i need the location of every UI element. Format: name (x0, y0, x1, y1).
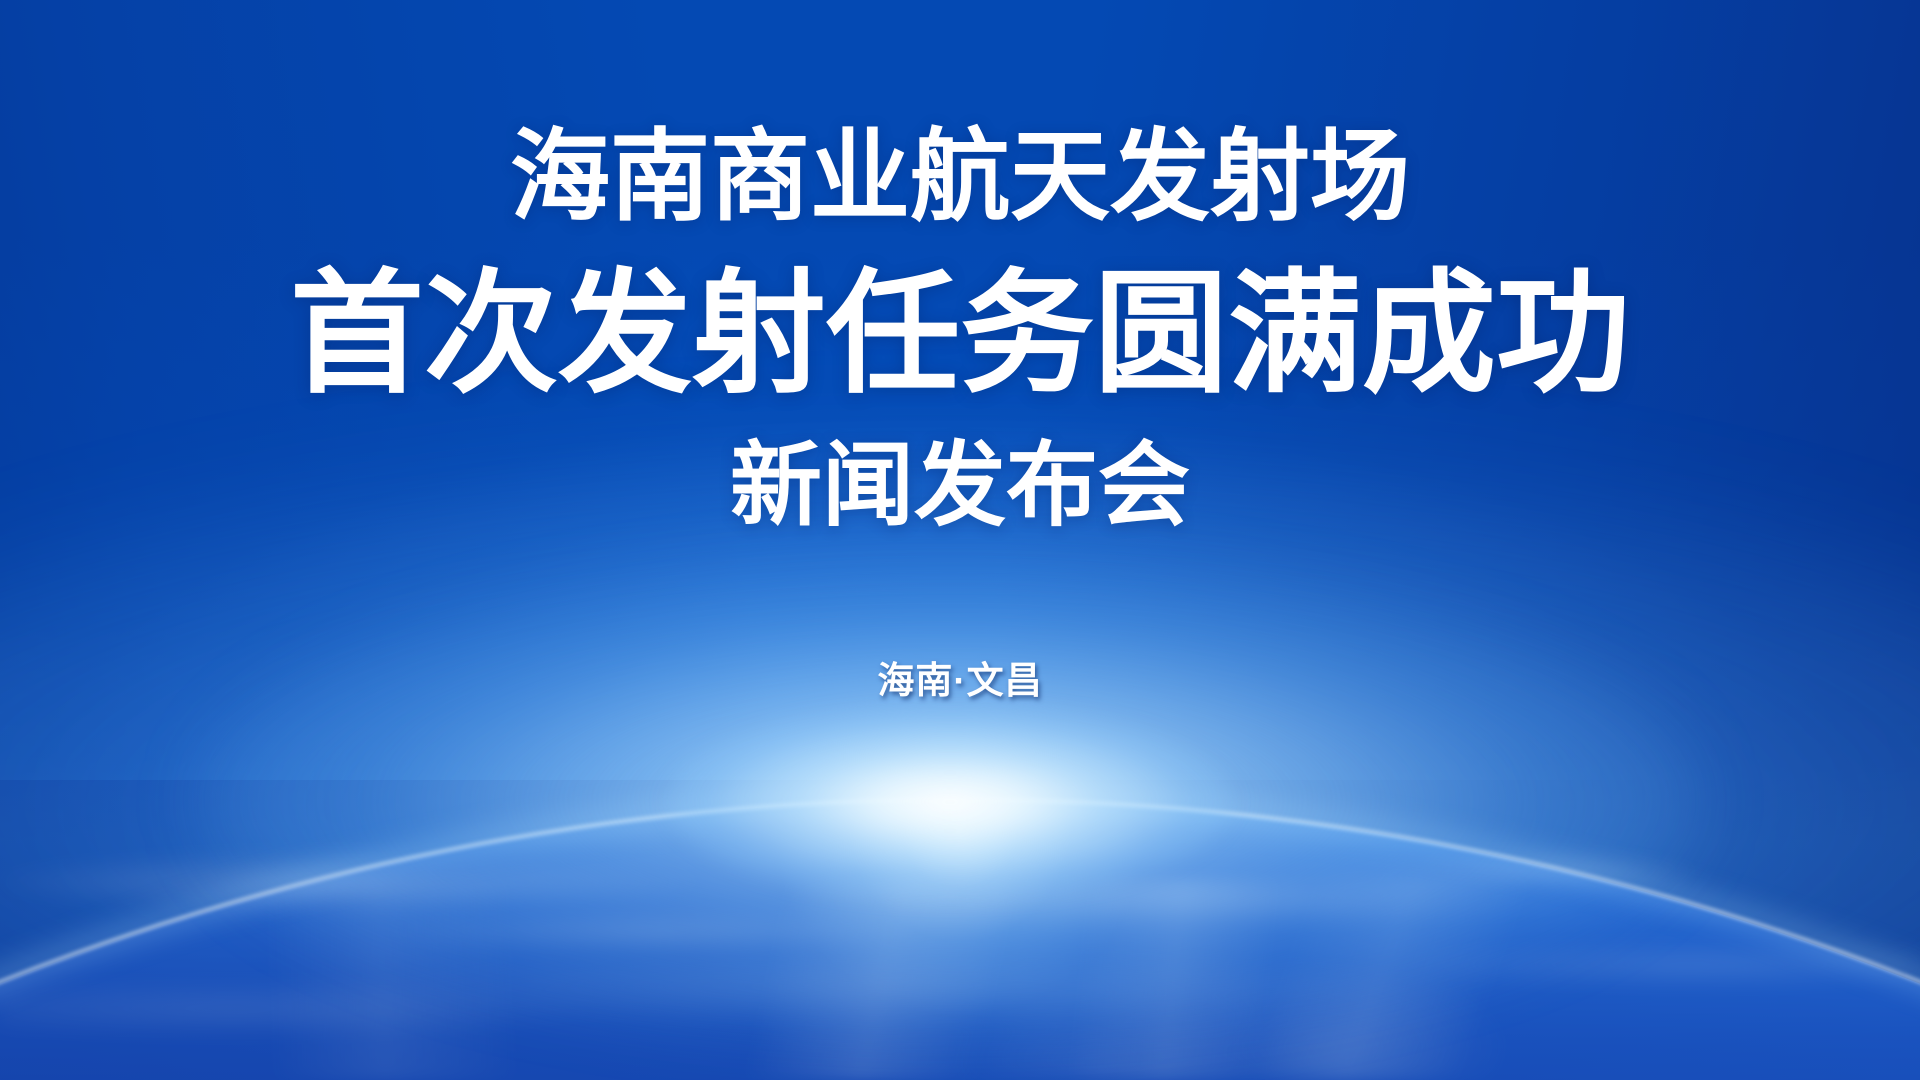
title-slide: 海南商业航天发射场 首次发射任务圆满成功 新闻发布会 海南·文昌 (0, 0, 1920, 1080)
text-layer: 海南商业航天发射场 首次发射任务圆满成功 新闻发布会 海南·文昌 (0, 0, 1920, 1080)
location-label: 海南·文昌 (0, 650, 1920, 704)
title-line-3: 新闻发布会 (0, 440, 1920, 532)
title-line-2: 首次发射任务圆满成功 (0, 268, 1920, 402)
title-line-1: 海南商业航天发射场 (0, 128, 1920, 228)
